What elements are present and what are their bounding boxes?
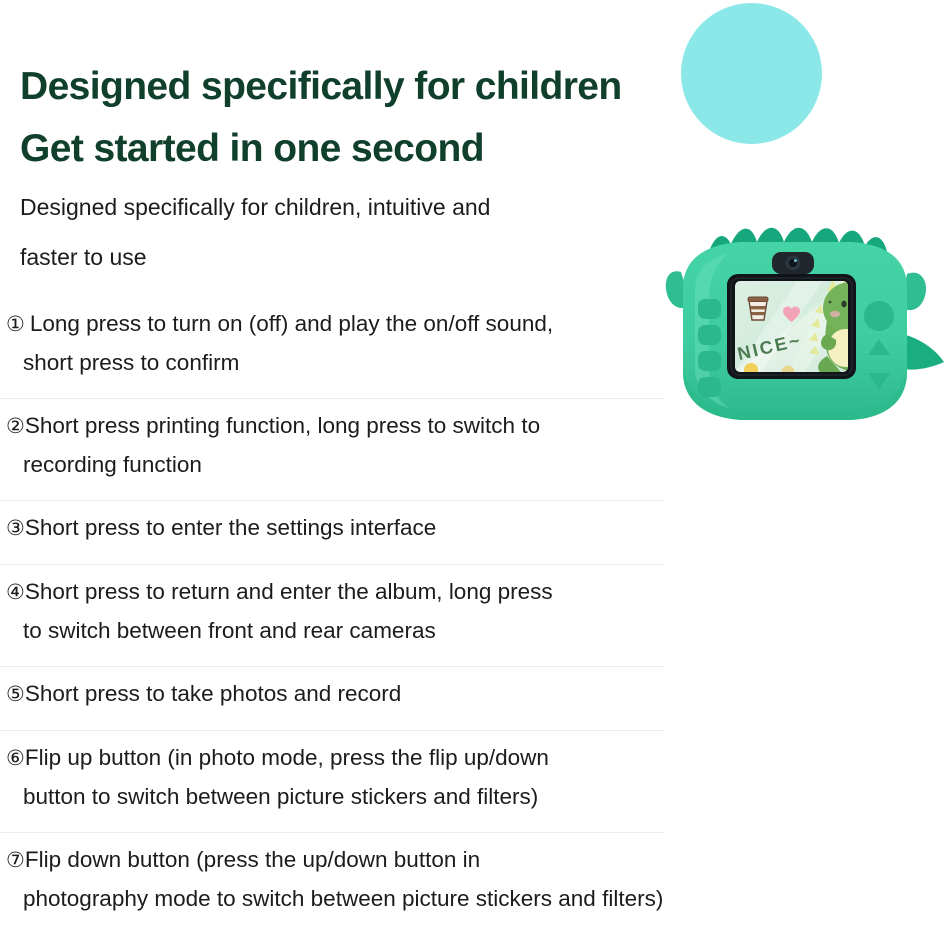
- feature-item-line-first: ⑥Flip up button (in photo mode, press th…: [6, 739, 663, 778]
- feature-item: ⑦Flip down button (press the up/down but…: [0, 833, 663, 934]
- feature-item-line-text: Flip down button (press the up/down butt…: [25, 847, 480, 872]
- coffee-cup-sticker: [748, 297, 768, 320]
- left-button-2: [698, 325, 721, 345]
- left-button-4: [698, 377, 721, 397]
- feature-item-text: ⑦Flip down button (press the up/down but…: [6, 833, 663, 934]
- page-title-line-2: Get started in one second: [20, 118, 720, 180]
- feature-item-line-text: Short press to return and enter the albu…: [25, 579, 553, 604]
- feature-item-line-text: photography mode to switch between pictu…: [23, 886, 663, 911]
- feature-item-number: ⑥: [6, 747, 25, 770]
- feature-item: ④Short press to return and enter the alb…: [0, 565, 663, 667]
- page-title-block: Designed specifically for children Get s…: [20, 56, 720, 179]
- feature-item-line-text: Flip up button (in photo mode, press the…: [25, 745, 549, 770]
- feature-item-line-text: Short press to enter the settings interf…: [25, 515, 436, 540]
- feature-item-number: ④: [6, 581, 25, 604]
- page-title-line-1: Designed specifically for children: [20, 56, 720, 118]
- feature-item-line-text: short press to confirm: [23, 350, 239, 375]
- feature-item: ①Long press to turn on (off) and play th…: [0, 297, 663, 399]
- page-subtitle-line-2: faster to use: [20, 232, 620, 282]
- camera-lens-module: [772, 252, 814, 274]
- left-button-1: [698, 299, 721, 319]
- feature-item-text: ⑥Flip up button (in photo mode, press th…: [6, 731, 663, 832]
- feature-item-line-first: ③Short press to enter the settings inter…: [6, 509, 663, 548]
- feature-list: ①Long press to turn on (off) and play th…: [0, 297, 663, 934]
- feature-item: ③Short press to enter the settings inter…: [0, 501, 663, 565]
- feature-item-line-text: recording function: [23, 452, 202, 477]
- feature-item: ②Short press printing function, long pre…: [0, 399, 663, 501]
- feature-item: ⑥Flip up button (in photo mode, press th…: [0, 731, 663, 833]
- feature-item: ⑤Short press to take photos and record: [0, 667, 663, 731]
- feature-item-line-first: ①Long press to turn on (off) and play th…: [6, 305, 663, 344]
- feature-item-number: ①: [6, 313, 25, 336]
- feature-item-line-cont: button to switch between picture sticker…: [6, 778, 663, 816]
- feature-item-line-first: ②Short press printing function, long pre…: [6, 407, 663, 446]
- feature-item-text: ⑤Short press to take photos and record: [6, 667, 663, 730]
- shutter-button: [864, 301, 894, 331]
- feature-item-text: ①Long press to turn on (off) and play th…: [6, 297, 663, 398]
- feature-item-number: ②: [6, 415, 25, 438]
- feature-item-line-first: ⑤Short press to take photos and record: [6, 675, 663, 714]
- feature-item-line-text: Short press to take photos and record: [25, 681, 401, 706]
- product-image-kids-camera: NICE~: [655, 196, 947, 444]
- page-subtitle-line-1: Designed specifically for children, intu…: [20, 182, 620, 232]
- feature-item-text: ②Short press printing function, long pre…: [6, 399, 663, 500]
- feature-item-number: ⑤: [6, 683, 25, 706]
- left-button-3: [698, 351, 721, 371]
- feature-item-line-first: ④Short press to return and enter the alb…: [6, 573, 663, 612]
- feature-item-line-text: Long press to turn on (off) and play the…: [30, 311, 553, 336]
- feature-item-text: ③Short press to enter the settings inter…: [6, 501, 663, 564]
- feature-item-line-cont: to switch between front and rear cameras: [6, 612, 663, 650]
- feature-item-line-cont: short press to confirm: [6, 344, 663, 382]
- feature-item-text: ④Short press to return and enter the alb…: [6, 565, 663, 666]
- feature-item-line-text: button to switch between picture sticker…: [23, 784, 538, 809]
- feature-item-line-cont: recording function: [6, 446, 663, 484]
- page-subtitle: Designed specifically for children, intu…: [20, 182, 620, 282]
- feature-item-line-cont: photography mode to switch between pictu…: [6, 880, 663, 918]
- feature-item-number: ⑦: [6, 849, 25, 872]
- feature-item-line-first: ⑦Flip down button (press the up/down but…: [6, 841, 663, 880]
- feature-item-number: ③: [6, 517, 25, 540]
- feature-item-line-text: Short press printing function, long pres…: [25, 413, 540, 438]
- feature-item-line-text: to switch between front and rear cameras: [23, 618, 436, 643]
